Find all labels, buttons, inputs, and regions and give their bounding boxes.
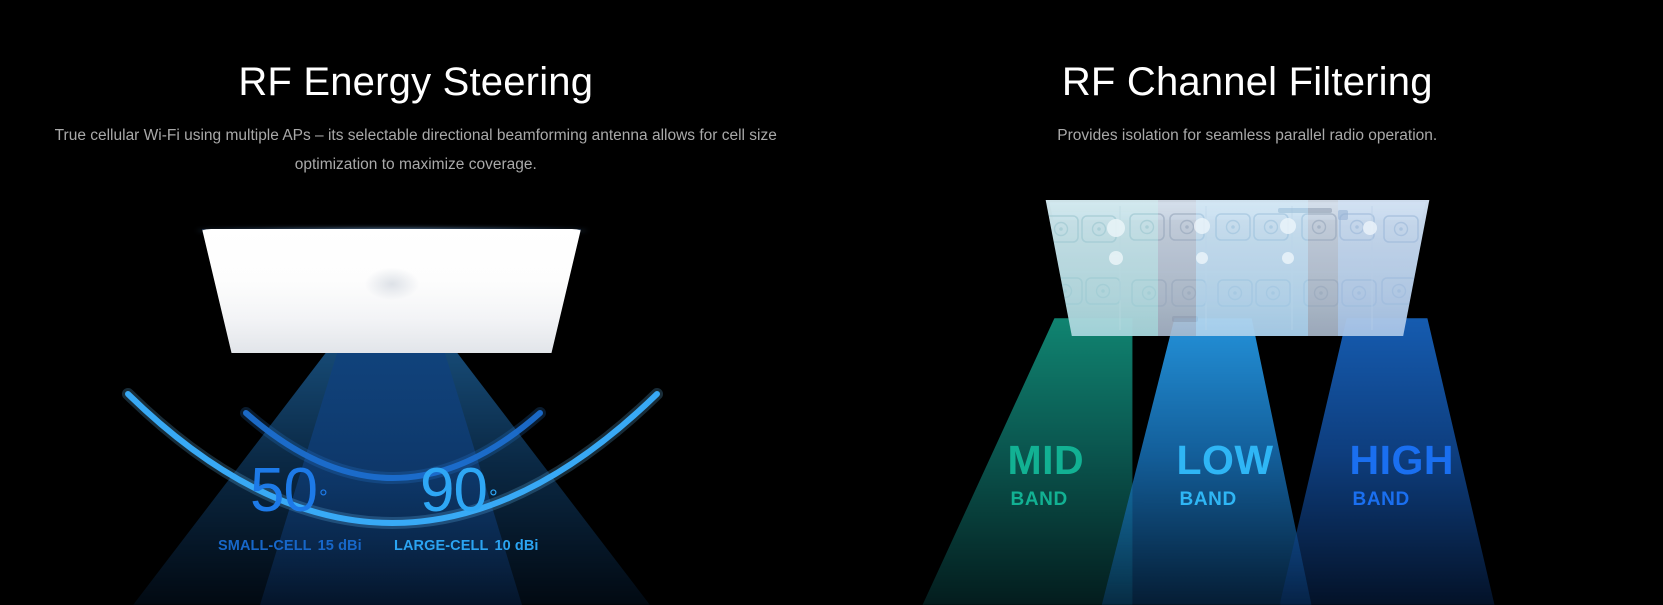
rf-channel-filtering-illustration: MID BAND LOW BAND HIGH BAND: [832, 0, 1663, 605]
high-band-label: HIGH BAND: [1350, 440, 1455, 509]
access-point-device: [181, 229, 602, 353]
small-cell-degree-icon: °: [319, 485, 328, 510]
large-cell-angle: 90°: [420, 460, 498, 522]
large-cell-name: LARGE-CELL: [394, 538, 488, 554]
cell-label-row: SMALL-CELL15 dBi LARGE-CELL10 dBi: [0, 538, 832, 568]
mid-band-label: MID BAND: [1008, 440, 1085, 509]
large-cell-angle-value: 90: [420, 456, 487, 525]
small-cell-gain: 15 dBi: [318, 538, 362, 554]
high-band-sublabel: BAND: [1353, 490, 1455, 509]
small-cell-name: SMALL-CELL: [218, 538, 312, 554]
panel-rf-energy-steering: RF Energy Steering True cellular Wi-Fi u…: [0, 0, 832, 605]
low-band-name: LOW: [1177, 440, 1274, 481]
large-cell-degree-icon: °: [489, 485, 498, 510]
antenna-array-icon: [1020, 200, 1456, 336]
access-point-xray-body: [1020, 200, 1456, 336]
large-cell-gain: 10 dBi: [494, 538, 538, 554]
mid-band-name: MID: [1008, 440, 1085, 481]
small-cell-angle-value: 50: [250, 456, 317, 525]
small-cell-angle: 50°: [250, 460, 328, 522]
panel-rf-channel-filtering: RF Channel Filtering Provides isolation …: [832, 0, 1663, 605]
low-band-label: LOW BAND: [1177, 440, 1274, 509]
feature-panels-stage: RF Energy Steering True cellular Wi-Fi u…: [0, 0, 1663, 605]
large-cell-caption: LARGE-CELL10 dBi: [394, 538, 539, 554]
low-band-sublabel: BAND: [1180, 490, 1274, 509]
high-band-name: HIGH: [1350, 440, 1455, 481]
small-cell-caption: SMALL-CELL15 dBi: [218, 538, 362, 554]
rf-energy-steering-illustration: 50° 90° SMALL-CELL15 dBi LARGE-CELL10 dB…: [0, 0, 832, 605]
beam-angle-row: 50° 90°: [0, 460, 832, 530]
mid-band-sublabel: BAND: [1011, 490, 1085, 509]
band-label-row: MID BAND LOW BAND HIGH BAND: [832, 440, 1663, 540]
